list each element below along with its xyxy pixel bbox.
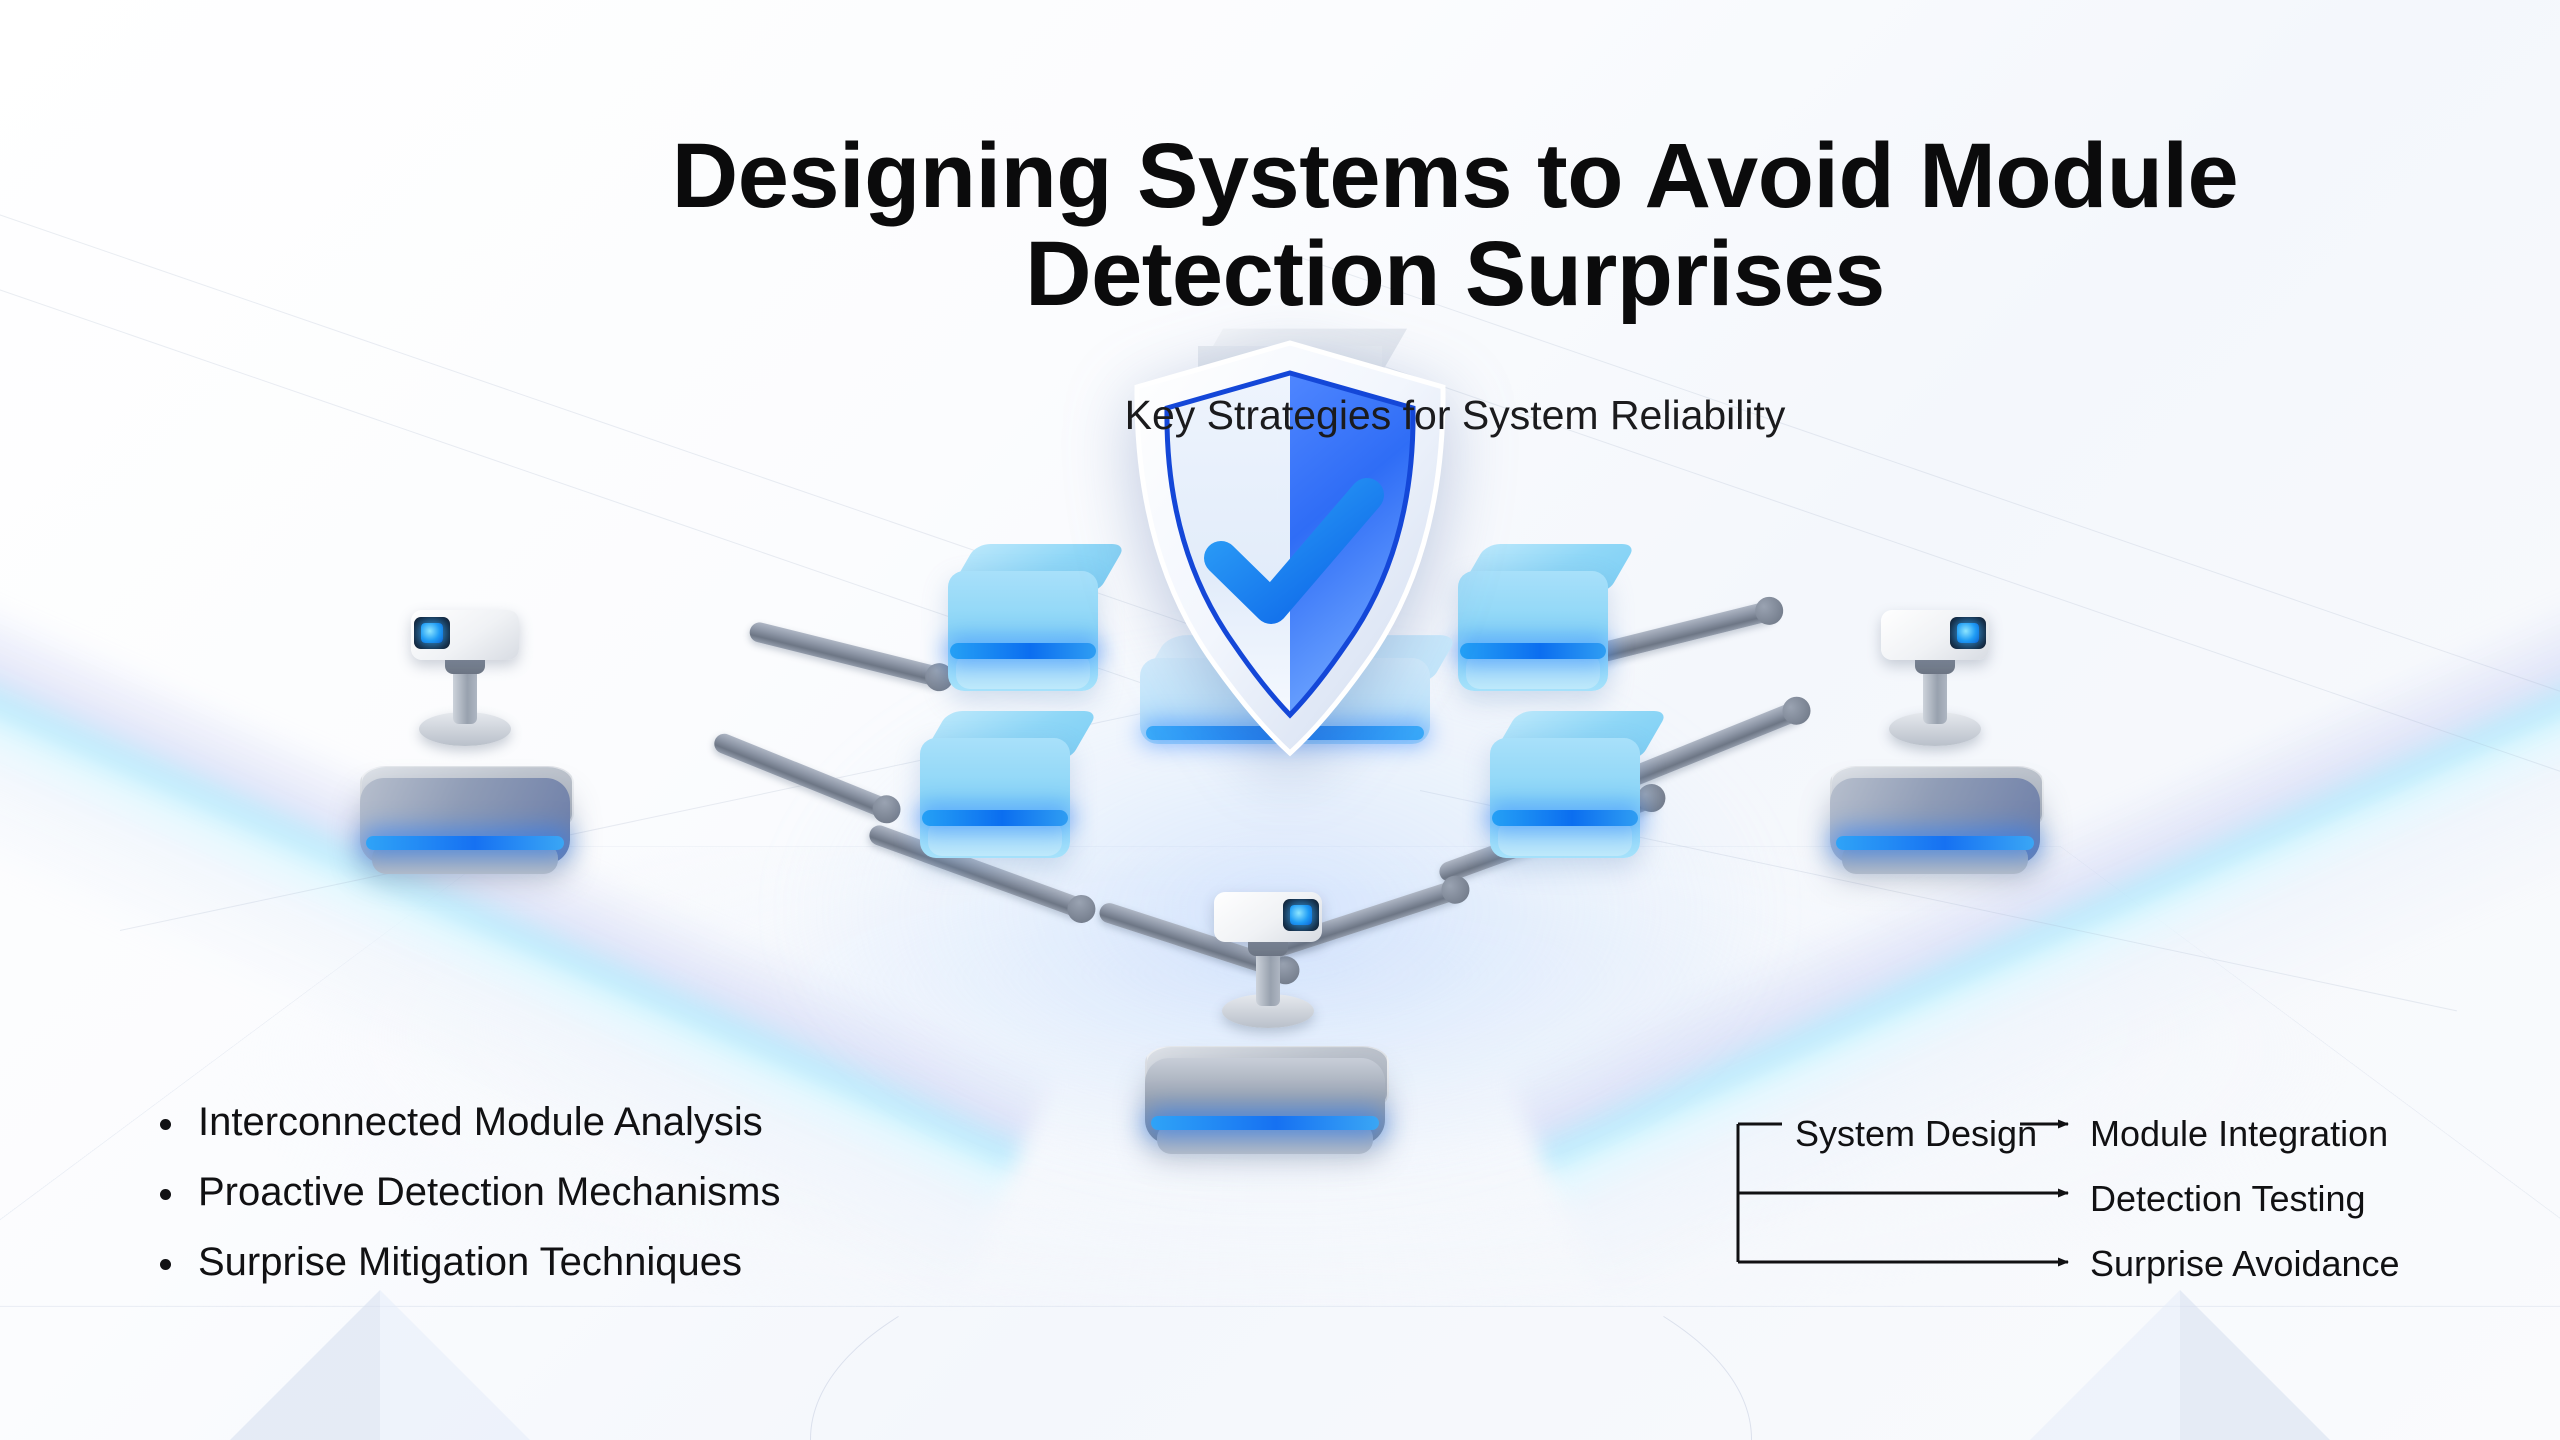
flow-target-label-3: Surprise Avoidance — [2090, 1246, 2400, 1282]
flow-target-label-2: Detection Testing — [2090, 1181, 2366, 1217]
module-glow-stripe — [1151, 1116, 1379, 1130]
camera-lens-icon — [414, 617, 450, 649]
security-camera-icon — [1875, 608, 1995, 758]
security-camera-icon — [1208, 890, 1328, 1040]
background-wedge — [2180, 1290, 2330, 1440]
page-subtitle: Key Strategies for System Reliability — [525, 392, 2385, 439]
process-flow-diagram: System Design Module Integration Detecti… — [1730, 1110, 2430, 1290]
camera-node-right — [1830, 630, 2160, 930]
cube-module-back-right — [1458, 525, 1608, 690]
background-wedge — [230, 1290, 380, 1440]
background-wedge — [380, 1290, 530, 1440]
module-glow-stripe — [366, 836, 564, 850]
module-glow-stripe — [1836, 836, 2034, 850]
flow-target-label-1: Module Integration — [2090, 1116, 2388, 1152]
cube-module-front-right — [1490, 692, 1640, 857]
camera-node-front — [1105, 890, 1435, 1210]
background-wedge — [2030, 1290, 2180, 1440]
list-item: Interconnected Module Analysis — [150, 1100, 780, 1145]
camera-node-left — [360, 630, 690, 930]
cube-module-front-left — [920, 692, 1070, 857]
camera-lens-icon — [1283, 899, 1319, 931]
title-line-2: Detection Surprises — [525, 226, 2385, 324]
security-camera-icon — [405, 608, 525, 758]
page-title: Designing Systems to Avoid Module Detect… — [525, 128, 2385, 323]
module-glow-stripe — [950, 643, 1096, 659]
cube-module-back-left — [948, 525, 1098, 690]
module-glow-stripe — [1492, 810, 1638, 826]
title-line-1: Designing Systems to Avoid Module — [525, 128, 2385, 226]
module-glow-stripe — [1460, 643, 1606, 659]
list-item: Proactive Detection Mechanisms — [150, 1170, 780, 1215]
module-glow-stripe — [922, 810, 1068, 826]
key-points-list: Interconnected Module Analysis Proactive… — [150, 1100, 780, 1285]
flow-source-label: System Design — [1795, 1116, 2037, 1152]
camera-lens-icon — [1950, 617, 1986, 649]
list-item: Surprise Mitigation Techniques — [150, 1240, 780, 1285]
